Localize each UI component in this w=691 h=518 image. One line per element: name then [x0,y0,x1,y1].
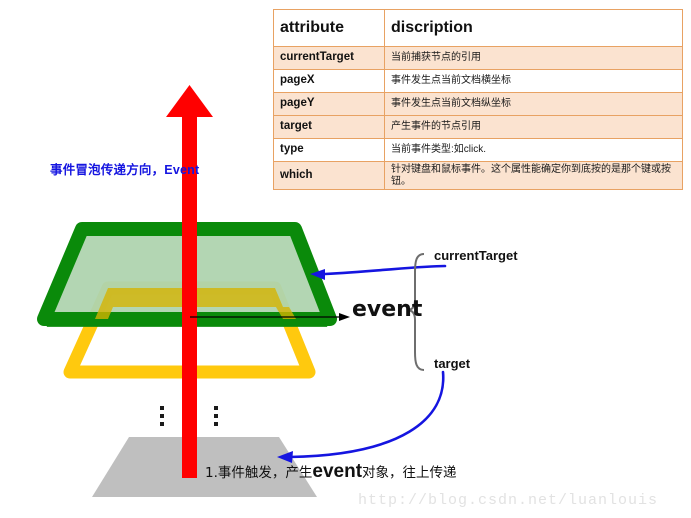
bottom-note-suffix: 对象，往上传递 [362,465,457,481]
target-label: target [434,356,470,371]
cell-description: 产生事件的节点引用 [385,116,683,139]
cell-description: 事件发生点当前文档横坐标 [385,70,683,93]
watermark: http://blog.csdn.net/luanlouis [358,492,658,509]
cell-description: 事件发生点当前文档纵坐标 [385,93,683,116]
current-target-label: currentTarget [434,248,518,263]
table-row: pageX 事件发生点当前文档横坐标 [274,70,683,93]
table-row: currentTarget 当前捕获节点的引用 [274,47,683,70]
table-header-row: attribute discription [274,10,683,47]
bubbling-direction-label: 事件冒泡传递方向，Event [50,159,199,178]
cell-attribute: pageX [274,70,385,93]
event-label: event [352,297,422,322]
bottom-note-emphasis: event [312,461,362,482]
cell-description: 当前捕获节点的引用 [385,47,683,70]
cell-description: 当前事件类型:如click. [385,139,683,162]
bottom-note-prefix: 1.事件触发，产生 [205,465,312,481]
cell-attribute: which [274,162,385,190]
cell-attribute: type [274,139,385,162]
table-row: which 针对键盘和鼠标事件。这个属性能确定你到底按的是那个键或按钮。 [274,162,683,190]
diagram-canvas: attribute discription currentTarget 当前捕获… [0,0,691,518]
cell-attribute: pageY [274,93,385,116]
target-pointer [277,372,443,463]
table-row: type 当前事件类型:如click. [274,139,683,162]
cell-attribute: currentTarget [274,47,385,70]
bottom-note: 1.事件触发，产生event对象，往上传递 [205,461,457,483]
header-discription: discription [385,10,683,47]
table-row: target 产生事件的节点引用 [274,116,683,139]
current-target-pointer [310,266,445,280]
cell-attribute: target [274,116,385,139]
table-row: pageY 事件发生点当前文档纵坐标 [274,93,683,116]
attribute-table: attribute discription currentTarget 当前捕获… [273,9,683,190]
header-attribute: attribute [274,10,385,47]
cell-description: 针对键盘和鼠标事件。这个属性能确定你到底按的是那个键或按钮。 [385,162,683,190]
